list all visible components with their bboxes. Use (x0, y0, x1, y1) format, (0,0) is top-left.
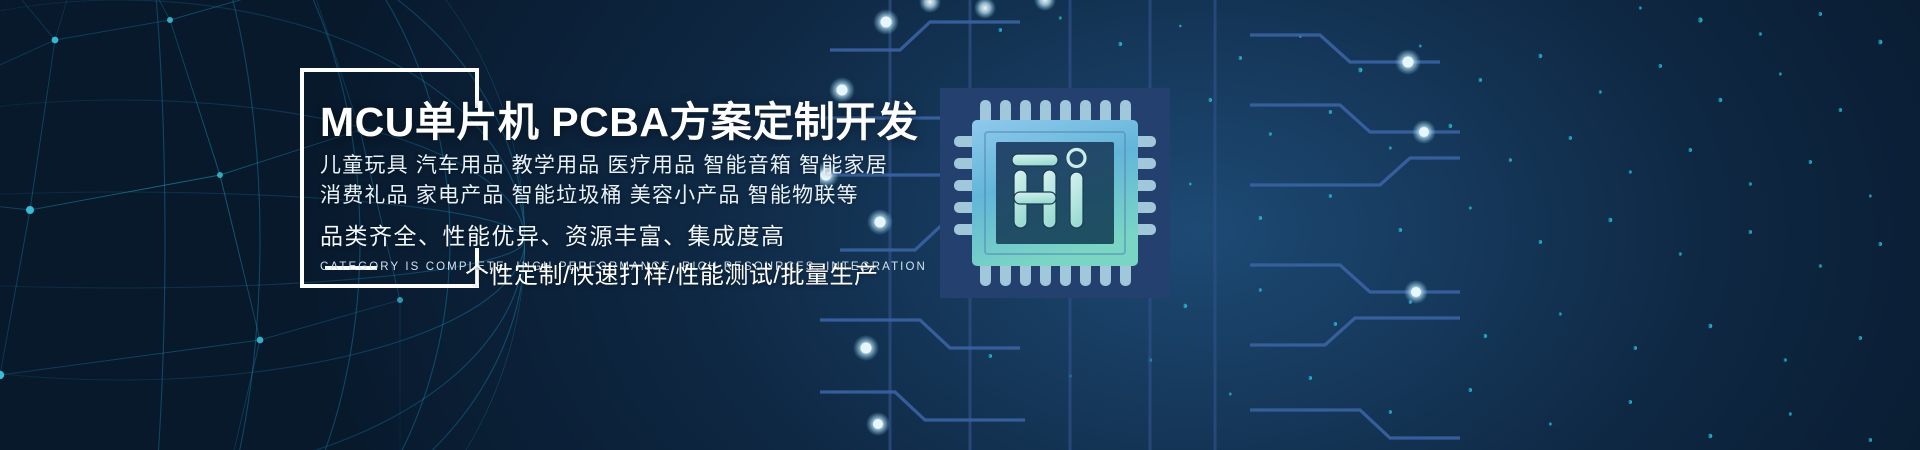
category-line-1: 儿童玩具 汽车用品 教学用品 医疗用品 智能音箱 智能家居 (320, 151, 1020, 181)
banner-copy: MCU单片机 PCBA方案定制开发 儿童玩具 汽车用品 教学用品 医疗用品 智能… (320, 100, 1020, 273)
category-list: 儿童玩具 汽车用品 教学用品 医疗用品 智能音箱 智能家居 消费礼品 家电产品 … (320, 151, 1020, 211)
category-line-2: 消费礼品 家电产品 智能垃圾桶 美容小产品 智能物联等 (320, 181, 1020, 211)
service-list: 个性定制/快速打样/性能测试/批量生产 (465, 255, 879, 290)
feature-highlights: 品类齐全、性能优异、资源丰富、集成度高 (320, 217, 1020, 251)
promo-banner: MCU单片机 PCBA方案定制开发 儿童玩具 汽车用品 教学用品 医疗用品 智能… (0, 0, 1920, 450)
banner-title: MCU单片机 PCBA方案定制开发 (320, 100, 1020, 144)
